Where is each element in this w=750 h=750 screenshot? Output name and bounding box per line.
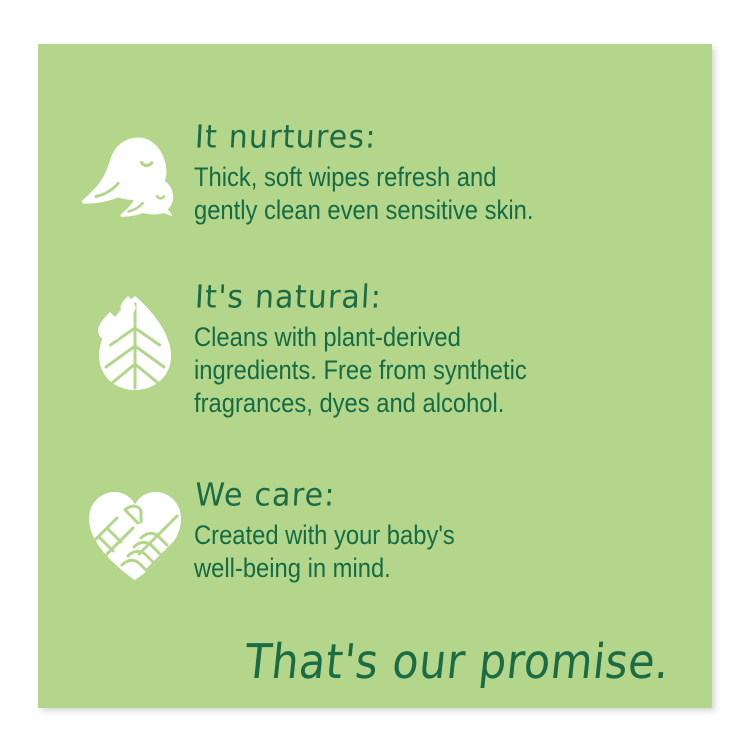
feature-text-care: We care: Created with your baby's well-b… (194, 480, 736, 585)
feature-body-line: well-being in mind. (194, 552, 671, 585)
heart-hands-icon (76, 480, 194, 584)
promise-tagline: That's our promise. (242, 632, 673, 691)
feature-row-natural: It's natural: Cleans with plant-derived … (76, 282, 736, 420)
feature-body-line: Created with your baby's (194, 519, 671, 552)
feature-body-line: fragrances, dyes and alcohol. (194, 387, 671, 420)
mother-and-baby-bird-icon (76, 122, 194, 224)
feature-text-nurtures: It nurtures: Thick, soft wipes refresh a… (194, 122, 736, 227)
feature-row-nurtures: It nurtures: Thick, soft wipes refresh a… (76, 122, 736, 227)
green-promo-card: It nurtures: Thick, soft wipes refresh a… (38, 44, 712, 708)
feature-body: Created with your baby's well-being in m… (194, 519, 671, 585)
feature-headline: It's natural: (194, 280, 738, 316)
feature-body-line: Cleans with plant-derived (194, 321, 671, 354)
feature-body: Thick, soft wipes refresh and gently cle… (194, 161, 671, 227)
feature-headline: We care: (194, 478, 738, 514)
promo-graphic: It nurtures: Thick, soft wipes refresh a… (0, 0, 750, 750)
feature-headline: It nurtures: (194, 120, 738, 156)
feature-body-line: ingredients. Free from synthetic (194, 354, 671, 387)
feature-body-line: gently clean even sensitive skin. (194, 194, 671, 227)
feature-body: Cleans with plant-derived ingredients. F… (194, 321, 671, 420)
feature-body-line: Thick, soft wipes refresh and (194, 161, 671, 194)
feature-text-natural: It's natural: Cleans with plant-derived … (194, 282, 736, 420)
leaf-with-water-drops-icon (76, 282, 194, 400)
feature-row-care: We care: Created with your baby's well-b… (76, 480, 736, 585)
